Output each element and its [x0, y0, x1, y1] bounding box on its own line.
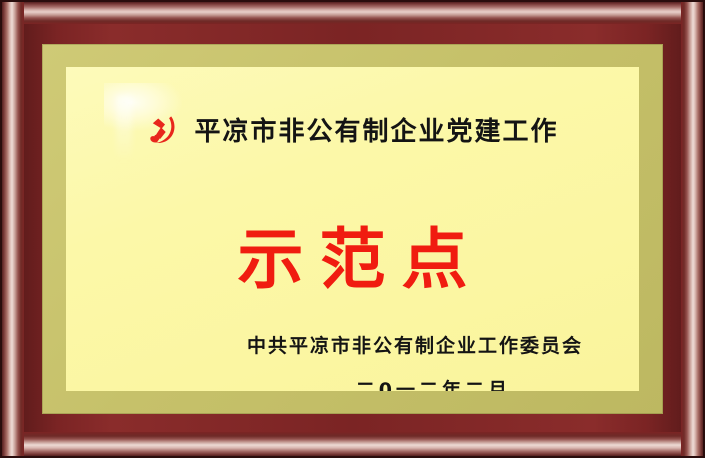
- title-row: 平凉市非公有制企业党建工作: [66, 111, 639, 148]
- plaque-mat: 平凉市非公有制企业党建工作 示范点 中共平凉市非公有制企业工作委员会 二0一二年…: [42, 44, 663, 414]
- frame-bevel-top: [2, 2, 703, 24]
- frame-bevel-right: [681, 2, 703, 456]
- frame-bevel-bottom: [2, 432, 703, 456]
- issue-date: 二0一二年二月: [356, 375, 511, 391]
- issuing-authority: 中共平凉市非公有制企业工作委员会: [247, 331, 583, 358]
- award-plaque: 平凉市非公有制企业党建工作 示范点 中共平凉市非公有制企业工作委员会 二0一二年…: [0, 0, 705, 458]
- certificate-panel: 平凉市非公有制企业党建工作 示范点 中共平凉市非公有制企业工作委员会 二0一二年…: [66, 67, 639, 391]
- hammer-and-sickle-icon: [146, 113, 180, 147]
- plaque-headline: 示范点: [66, 227, 639, 293]
- frame-bevel-left: [2, 2, 24, 456]
- plaque-title: 平凉市非公有制企业党建工作: [194, 111, 558, 148]
